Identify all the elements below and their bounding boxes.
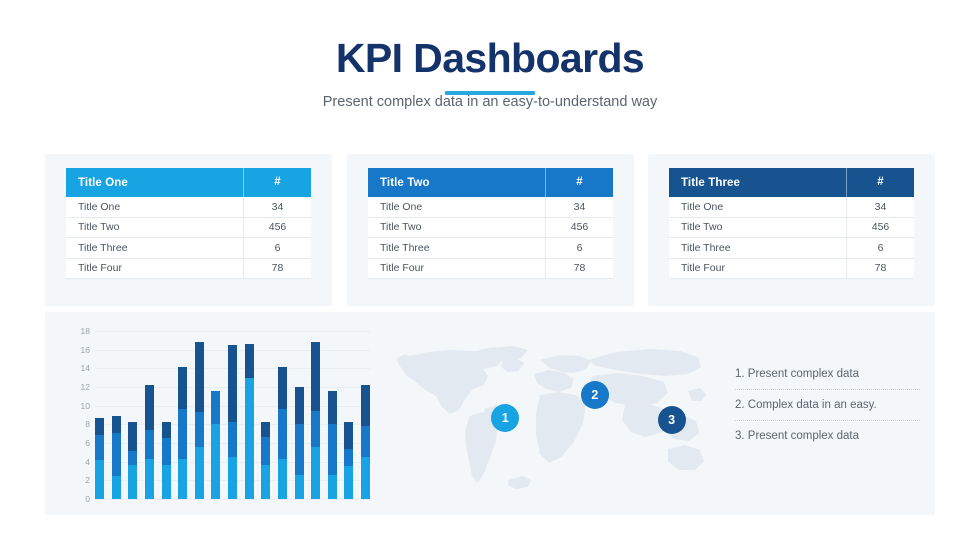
bar-segment — [228, 457, 237, 499]
list-item[interactable]: 1. Present complex data — [735, 359, 920, 389]
bar-segment — [261, 437, 270, 465]
kpi-table-2-header: Title Two # — [368, 168, 613, 197]
map-pin-2[interactable]: 2 — [581, 381, 609, 409]
kpi-row-value: 34 — [846, 197, 914, 218]
bar-chart-plot-area: 024681012141618 — [95, 331, 370, 499]
bar-segment — [361, 426, 370, 457]
kpi-table-2-header-num: # — [545, 168, 613, 197]
bar-stack[interactable] — [295, 387, 304, 499]
y-axis-tick-label: 10 — [81, 401, 90, 411]
bar-segment — [112, 476, 121, 499]
map-pin-1[interactable]: 1 — [491, 404, 519, 432]
bar-stack[interactable] — [228, 345, 237, 499]
kpi-panel-2: Title Two # Title One 34 Title Two 456 T… — [347, 154, 634, 306]
kpi-row-value: 34 — [243, 197, 311, 218]
bar-segment — [128, 422, 137, 452]
bar-segment — [295, 387, 304, 424]
bar-segment — [311, 342, 320, 411]
kpi-row-value: 6 — [545, 238, 613, 259]
bar-segment — [261, 422, 270, 438]
bar-segment — [95, 435, 104, 460]
bar-stack[interactable] — [128, 422, 137, 499]
bar-segment — [211, 391, 220, 425]
bar-segment — [112, 433, 121, 476]
y-axis-tick-label: 4 — [85, 457, 90, 467]
kpi-row-value: 6 — [243, 238, 311, 259]
table-row[interactable]: Title Three 6 — [669, 238, 914, 259]
bar-segment — [112, 416, 121, 433]
bar-stack[interactable] — [311, 342, 320, 499]
kpi-row-label: Title Four — [669, 262, 846, 274]
bar-stack[interactable] — [195, 342, 204, 499]
table-row[interactable]: Title Three 6 — [66, 238, 311, 259]
kpi-table-1-header: Title One # — [66, 168, 311, 197]
gridline — [95, 499, 370, 500]
kpi-table-3-header-label: Title Three — [669, 177, 846, 189]
table-row[interactable]: Title Four 78 — [669, 259, 914, 280]
bar-stack[interactable] — [162, 422, 171, 499]
bottom-panel: 024681012141618 — [45, 312, 935, 515]
kpi-row-value: 456 — [545, 217, 613, 238]
kpi-table-1-header-label: Title One — [66, 177, 243, 189]
table-row[interactable]: Title Two 456 — [669, 218, 914, 239]
bar-segment — [162, 465, 171, 499]
kpi-row-label: Title Three — [368, 242, 545, 254]
bar-chart: 024681012141618 — [65, 325, 395, 505]
bar-segment — [95, 418, 104, 435]
bar-segment — [195, 412, 204, 447]
bar-segment — [328, 475, 337, 499]
bar-segment — [128, 465, 137, 499]
bar-segment — [261, 465, 270, 499]
kpi-row-value: 78 — [243, 258, 311, 279]
bar-stack[interactable] — [245, 344, 254, 499]
bar-segment — [311, 411, 320, 446]
bar-stack[interactable] — [211, 391, 220, 499]
table-row[interactable]: Title Two 456 — [368, 218, 613, 239]
bar-segment — [361, 385, 370, 426]
bar-segment — [145, 430, 154, 459]
bar-segment — [278, 459, 287, 499]
bar-segment — [128, 451, 137, 465]
kpi-table-3: Title Three # Title One 34 Title Two 456… — [669, 168, 914, 279]
bar-segment — [145, 459, 154, 499]
slide-header: KPI Dashboards Present complex data in a… — [0, 36, 980, 110]
kpi-row-label: Title Two — [66, 221, 243, 233]
table-row[interactable]: Title Three 6 — [368, 238, 613, 259]
table-row[interactable]: Title One 34 — [669, 197, 914, 218]
slide-canvas: KPI Dashboards Present complex data in a… — [0, 0, 980, 551]
bar-stack[interactable] — [261, 422, 270, 499]
kpi-row-label: Title One — [66, 201, 243, 213]
bar-segment — [178, 367, 187, 409]
bar-segment — [95, 460, 104, 499]
bar-segment — [178, 459, 187, 499]
bar-segment — [278, 409, 287, 458]
bar-stack[interactable] — [344, 422, 353, 499]
legend-list: 1. Present complex data 2. Complex data … — [735, 359, 920, 451]
list-item[interactable]: 3. Present complex data — [735, 420, 920, 451]
y-axis-tick-label: 2 — [85, 475, 90, 485]
bar-segment — [245, 378, 254, 499]
bar-stack[interactable] — [361, 385, 370, 499]
table-row[interactable]: Title Four 78 — [66, 259, 311, 280]
title-accent-bar — [445, 91, 535, 95]
bar-segment — [328, 424, 337, 474]
bar-segment — [228, 345, 237, 422]
table-row[interactable]: Title One 34 — [368, 197, 613, 218]
kpi-table-2: Title Two # Title One 34 Title Two 456 T… — [368, 168, 613, 279]
kpi-row-label: Title One — [669, 201, 846, 213]
y-axis-tick-label: 6 — [85, 438, 90, 448]
bar-segment — [361, 457, 370, 499]
kpi-table-3-header: Title Three # — [669, 168, 914, 197]
kpi-row-value: 78 — [846, 258, 914, 279]
kpi-table-2-header-label: Title Two — [368, 177, 545, 189]
kpi-table-1: Title One # Title One 34 Title Two 456 T… — [66, 168, 311, 279]
world-map-widget: 123 — [390, 330, 710, 500]
y-axis-tick-label: 14 — [81, 363, 90, 373]
kpi-row-label: Title Two — [669, 221, 846, 233]
y-axis-tick-label: 12 — [81, 382, 90, 392]
page-title: KPI Dashboards — [0, 36, 980, 82]
bar-stack[interactable] — [328, 391, 337, 499]
bar-chart-bars — [95, 331, 370, 499]
bar-segment — [162, 422, 171, 439]
y-axis-tick-label: 18 — [81, 326, 90, 336]
kpi-panel-3: Title Three # Title One 34 Title Two 456… — [648, 154, 935, 306]
kpi-row-value: 78 — [545, 258, 613, 279]
bar-segment — [245, 344, 254, 378]
bar-segment — [278, 367, 287, 409]
y-axis-tick-label: 0 — [85, 494, 90, 504]
map-pin-3[interactable]: 3 — [658, 406, 686, 434]
kpi-row-value: 456 — [846, 217, 914, 238]
bar-segment — [295, 424, 304, 474]
bar-segment — [344, 422, 353, 449]
bar-stack[interactable] — [145, 385, 154, 499]
bar-segment — [344, 466, 353, 499]
bar-stack[interactable] — [278, 367, 287, 499]
kpi-row-label: Title Two — [368, 221, 545, 233]
bar-segment — [344, 449, 353, 467]
bar-stack[interactable] — [178, 367, 187, 499]
kpi-row-label: Title Four — [66, 262, 243, 274]
kpi-row-label: Title Four — [368, 262, 545, 274]
table-row[interactable]: Title One 34 — [66, 197, 311, 218]
bar-stack[interactable] — [95, 418, 104, 499]
kpi-row-value: 6 — [846, 238, 914, 259]
bar-segment — [178, 409, 187, 458]
bar-segment — [211, 424, 220, 499]
bar-segment — [195, 342, 204, 412]
bar-segment — [145, 385, 154, 430]
table-row[interactable]: Title Four 78 — [368, 259, 613, 280]
kpi-row-label: Title Three — [669, 242, 846, 254]
table-row[interactable]: Title Two 456 — [66, 218, 311, 239]
bar-stack[interactable] — [112, 416, 121, 499]
page-subtitle: Present complex data in an easy-to-under… — [0, 94, 980, 110]
bar-segment — [195, 447, 204, 499]
kpi-row-label: Title One — [368, 201, 545, 213]
y-axis-tick-label: 8 — [85, 419, 90, 429]
kpi-table-3-header-num: # — [846, 168, 914, 197]
kpi-panel-1: Title One # Title One 34 Title Two 456 T… — [45, 154, 332, 306]
bar-segment — [228, 422, 237, 457]
list-item[interactable]: 2. Complex data in an easy. — [735, 389, 920, 420]
bar-segment — [311, 447, 320, 499]
y-axis-tick-label: 16 — [81, 345, 90, 355]
bar-segment — [328, 391, 337, 425]
bar-segment — [162, 438, 171, 465]
kpi-row-value: 456 — [243, 217, 311, 238]
bar-segment — [295, 475, 304, 499]
kpi-row-label: Title Three — [66, 242, 243, 254]
kpi-row-value: 34 — [545, 197, 613, 218]
kpi-table-1-header-num: # — [243, 168, 311, 197]
